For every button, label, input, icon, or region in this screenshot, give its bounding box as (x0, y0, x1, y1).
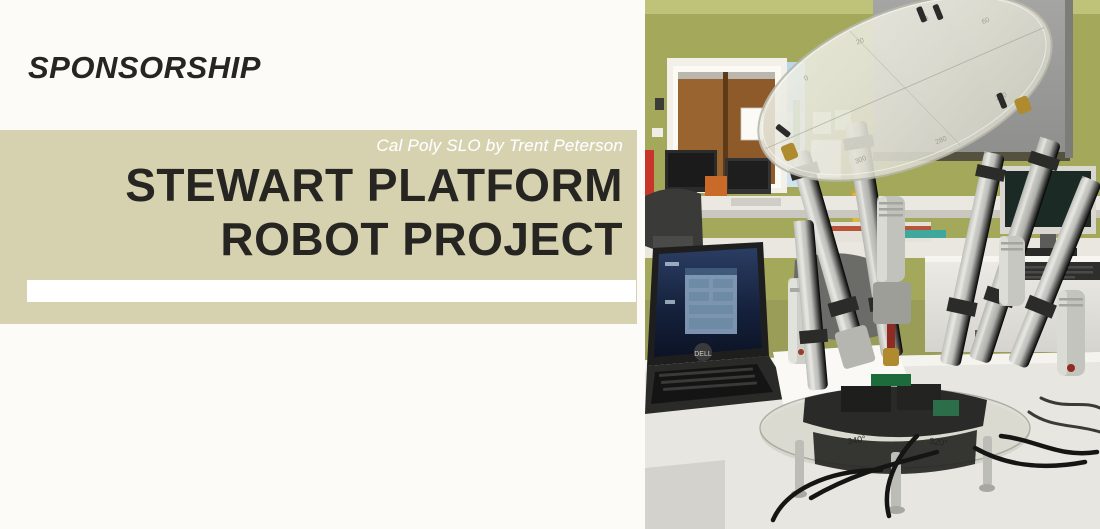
orange-object (705, 176, 727, 196)
title-band: Cal Poly SLO by Trent Peterson STEWART P… (0, 130, 637, 324)
teal-tool (900, 230, 946, 238)
subtitle-credit: Cal Poly SLO by Trent Peterson (376, 136, 623, 156)
page-title: STEWART PLATFORM ROBOT PROJECT (23, 158, 623, 267)
title-line-1: STEWART PLATFORM (23, 158, 623, 212)
text-panel: SPONSORSHIP Cal Poly SLO by Trent Peters… (0, 0, 645, 529)
title-underline-rule (27, 280, 636, 302)
red-shaft (887, 324, 895, 350)
actuator-motor-4 (1057, 290, 1085, 376)
fire-extinguisher (645, 150, 654, 198)
eyebrow-label: SPONSORSHIP (28, 50, 261, 86)
robot-photo: DELL (645, 0, 1100, 529)
sponsorship-banner: SPONSORSHIP Cal Poly SLO by Trent Peters… (0, 0, 1100, 529)
laptop-brand-label: DELL (694, 351, 712, 358)
brass-joint (883, 348, 899, 366)
title-line-2: ROBOT PROJECT (23, 212, 623, 266)
pcb-green (871, 374, 911, 386)
robot-photo-illustration: DELL (645, 0, 1100, 529)
